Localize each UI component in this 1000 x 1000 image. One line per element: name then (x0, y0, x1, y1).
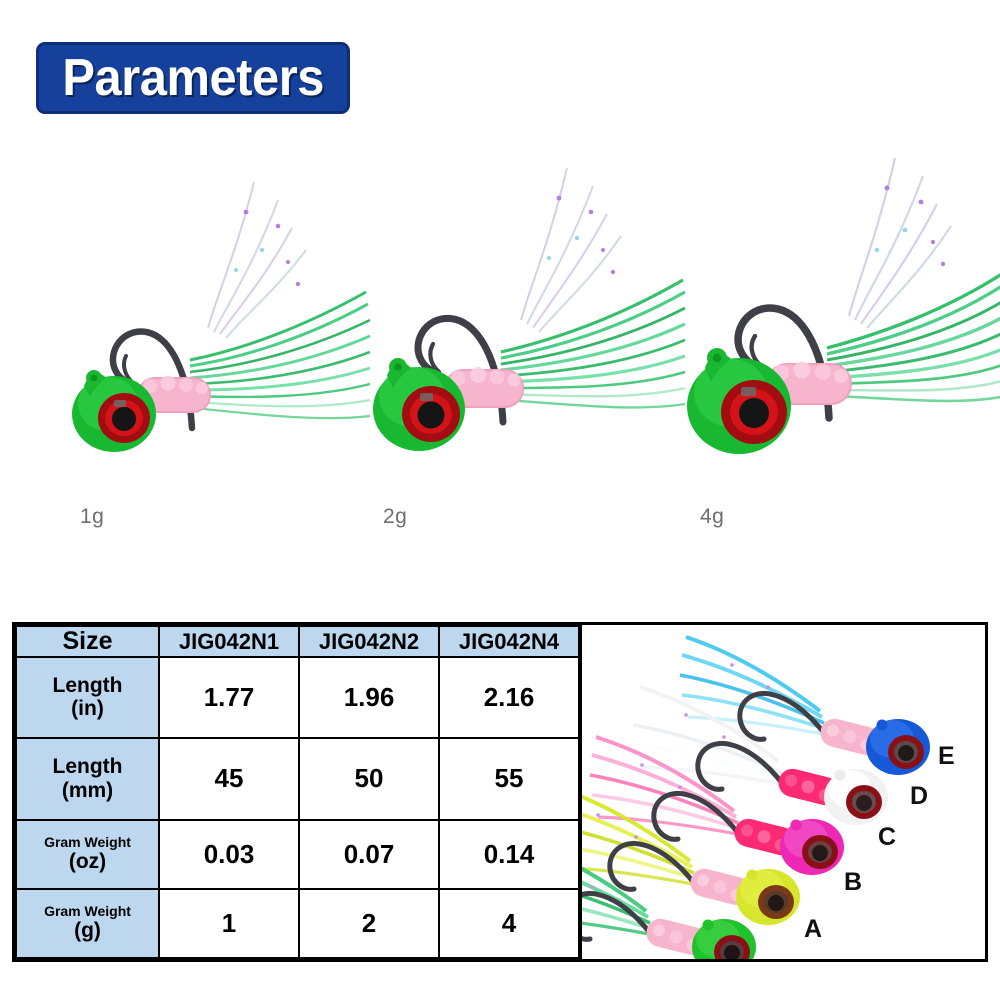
row-label: Length (17, 674, 158, 698)
tail-flash (827, 272, 1000, 401)
table-header-row: Size JIG042N1 JIG042N2 JIG042N4 (16, 626, 579, 657)
lure-illustration-4g (665, 136, 1000, 476)
column-header-size: Size (16, 626, 159, 657)
jig-head (373, 358, 465, 451)
tinsel-strands (521, 168, 621, 332)
row-unit: (oz) (17, 850, 158, 874)
specification-table: Size JIG042N1 JIG042N2 JIG042N4 Length (… (15, 625, 580, 959)
row-header-weight-oz: Gram Weight (oz) (16, 820, 159, 889)
cell-length-mm-n2: 50 (299, 738, 439, 819)
row-label: Gram Weight (17, 903, 158, 919)
table-row-length-mm: Length (mm) 45 50 55 (16, 738, 579, 819)
variant-e-head (866, 719, 930, 775)
cell-length-in-n2: 1.96 (299, 657, 439, 738)
column-header-jig042n2: JIG042N2 (299, 626, 439, 657)
variant-lure-c (590, 737, 844, 875)
product-lure-2g (345, 138, 685, 468)
page-title: Parameters (62, 48, 324, 108)
cell-length-in-n4: 2.16 (439, 657, 579, 738)
cell-length-in-n1: 1.77 (159, 657, 299, 738)
cell-weight-g-n2: 2 (299, 889, 439, 958)
cell-weight-oz-n2: 0.07 (299, 820, 439, 889)
row-header-length-mm: Length (mm) (16, 738, 159, 819)
color-variants-panel: A B C D E (580, 625, 985, 959)
row-header-weight-g: Gram Weight (g) (16, 889, 159, 958)
variant-a-head (692, 919, 756, 959)
variant-b-head (736, 869, 800, 925)
cell-weight-g-n1: 1 (159, 889, 299, 958)
jig-head (687, 348, 791, 454)
variant-e-tail (680, 637, 828, 735)
row-label: Length (17, 755, 158, 779)
color-letter-e: E (938, 742, 955, 771)
variant-d-tail (634, 687, 786, 785)
table-row-weight-g: Gram Weight (g) 1 2 4 (16, 889, 579, 958)
tinsel-strands (208, 182, 306, 338)
variant-lure-e (680, 637, 930, 775)
tail-flash (190, 292, 370, 418)
column-header-jig042n1: JIG042N1 (159, 626, 299, 657)
variant-c-head (780, 819, 844, 875)
variant-lure-b (582, 787, 800, 925)
weight-label-4g: 4g (700, 505, 724, 529)
lure-illustration-1g (40, 142, 370, 462)
tail-flash (501, 280, 685, 407)
product-lure-1g (40, 142, 370, 462)
specification-section: Size JIG042N1 JIG042N2 JIG042N4 Length (… (12, 622, 988, 962)
color-letter-d: D (910, 782, 928, 811)
row-header-length-in: Length (in) (16, 657, 159, 738)
variant-d-head (824, 769, 888, 825)
row-unit: (in) (17, 697, 158, 721)
cell-weight-g-n4: 4 (439, 889, 579, 958)
table-row-weight-oz: Gram Weight (oz) 0.03 0.07 0.14 (16, 820, 579, 889)
variant-c-tail (590, 737, 742, 835)
lure-illustration-2g (345, 138, 685, 468)
color-letter-b: B (844, 868, 862, 897)
cell-length-mm-n1: 45 (159, 738, 299, 819)
color-letter-a: A (804, 915, 822, 944)
parameters-banner: Parameters (36, 42, 350, 114)
row-unit: (mm) (17, 779, 158, 803)
weight-label-2g: 2g (383, 505, 407, 529)
product-lure-4g (665, 136, 1000, 476)
color-letter-c: C (878, 823, 896, 852)
product-photo-area: 1g 2g 4g (0, 120, 1000, 540)
tinsel-strands (849, 158, 951, 328)
row-label: Gram Weight (17, 834, 158, 850)
cell-weight-oz-n1: 0.03 (159, 820, 299, 889)
table-row-length-in: Length (in) 1.77 1.96 2.16 (16, 657, 579, 738)
cell-weight-oz-n4: 0.14 (439, 820, 579, 889)
weight-label-1g: 1g (80, 505, 104, 529)
variant-lure-d (634, 687, 888, 825)
row-unit: (g) (17, 919, 158, 943)
cell-length-mm-n4: 55 (439, 738, 579, 819)
column-header-jig042n4: JIG042N4 (439, 626, 579, 657)
